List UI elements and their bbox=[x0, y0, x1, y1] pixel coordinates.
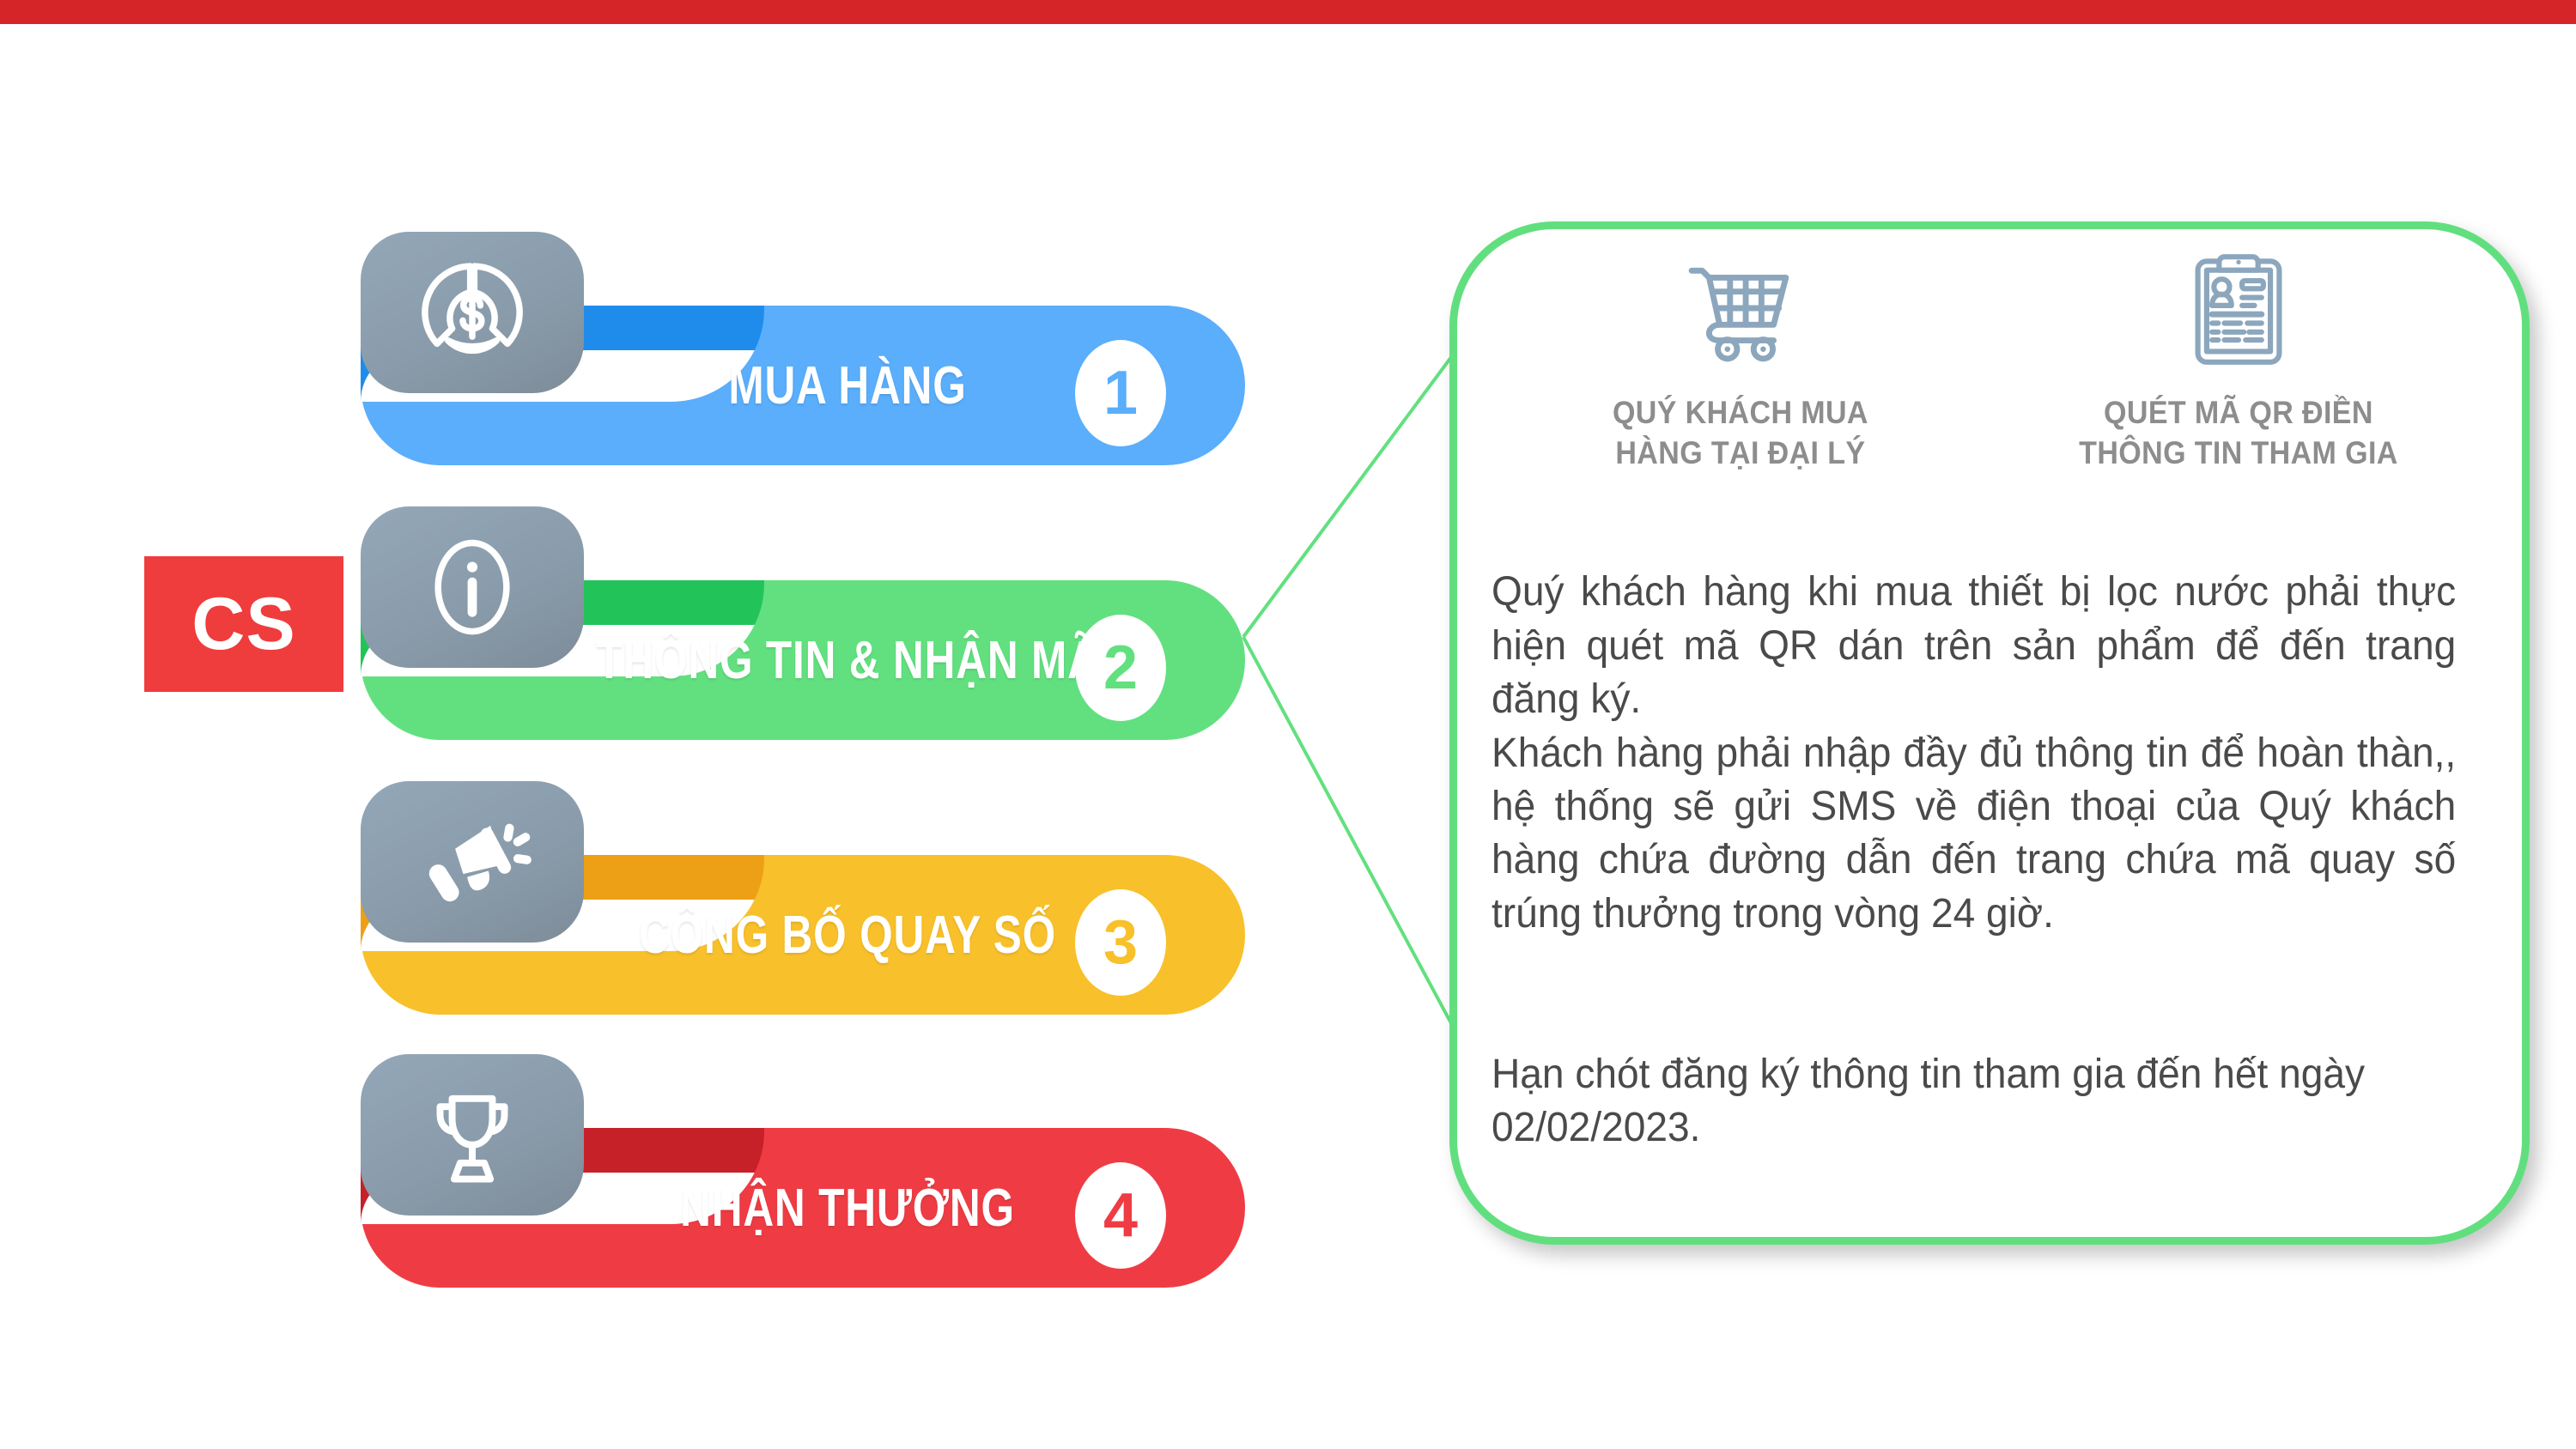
step-item[interactable]: THÔNG TIN & NHẬN MÃ 2 bbox=[361, 506, 1245, 747]
step-label: THÔNG TIN & NHẬN MÃ bbox=[664, 580, 1030, 740]
megaphone-icon bbox=[361, 781, 584, 943]
panel-icon-item: QUÝ KHÁCH MUA HÀNG TẠI ĐẠI LÝ bbox=[1560, 245, 1921, 502]
step-item[interactable]: NHẬN THƯỞNG 4 bbox=[361, 1054, 1245, 1294]
step-label: CÔNG BỐ QUAY SỐ bbox=[664, 855, 1030, 1015]
step-item[interactable]: MUA HÀNG 1 bbox=[361, 232, 1245, 472]
panel-icon-item: QUÉT MÃ QR ĐIỀN THÔNG TIN THAM GIA bbox=[2058, 245, 2419, 502]
step-number-badge: 2 bbox=[1075, 615, 1166, 721]
panel-icon-caption: QUÉT MÃ QR ĐIỀN THÔNG TIN THAM GIA bbox=[2079, 392, 2398, 474]
info-circle-icon bbox=[361, 506, 584, 668]
panel-icon-row: QUÝ KHÁCH MUA HÀNG TẠI ĐẠI LÝ bbox=[1560, 245, 2419, 502]
panel-body-text: Quý khách hàng khi mua thiết bị lọc nước… bbox=[1492, 512, 2456, 1209]
shopping-cart-icon bbox=[1680, 245, 1801, 373]
step-label: MUA HÀNG bbox=[664, 306, 1030, 465]
panel-icon-caption: QUÝ KHÁCH MUA HÀNG TẠI ĐẠI LÝ bbox=[1613, 392, 1868, 474]
slide-canvas: CS MUA HÀNG 1 bbox=[0, 0, 2576, 1449]
clipboard-profile-icon bbox=[2188, 245, 2289, 373]
step-number-badge: 3 bbox=[1075, 889, 1166, 996]
details-panel: QUÝ KHÁCH MUA HÀNG TẠI ĐẠI LÝ bbox=[1449, 221, 2530, 1245]
panel-paragraph: Quý khách hàng khi mua thiết bị lọc nước… bbox=[1492, 566, 2456, 941]
trophy-icon bbox=[361, 1054, 584, 1216]
step-number-badge: 1 bbox=[1075, 340, 1166, 446]
step-item[interactable]: CÔNG BỐ QUAY SỐ 3 bbox=[361, 781, 1245, 1022]
step-number-badge: 4 bbox=[1075, 1162, 1166, 1269]
panel-paragraph: Hạn chót đăng ký thông tin tham gia đến … bbox=[1492, 1048, 2456, 1155]
step-label: NHẬN THƯỞNG bbox=[664, 1128, 1030, 1288]
money-pie-icon bbox=[361, 232, 584, 393]
